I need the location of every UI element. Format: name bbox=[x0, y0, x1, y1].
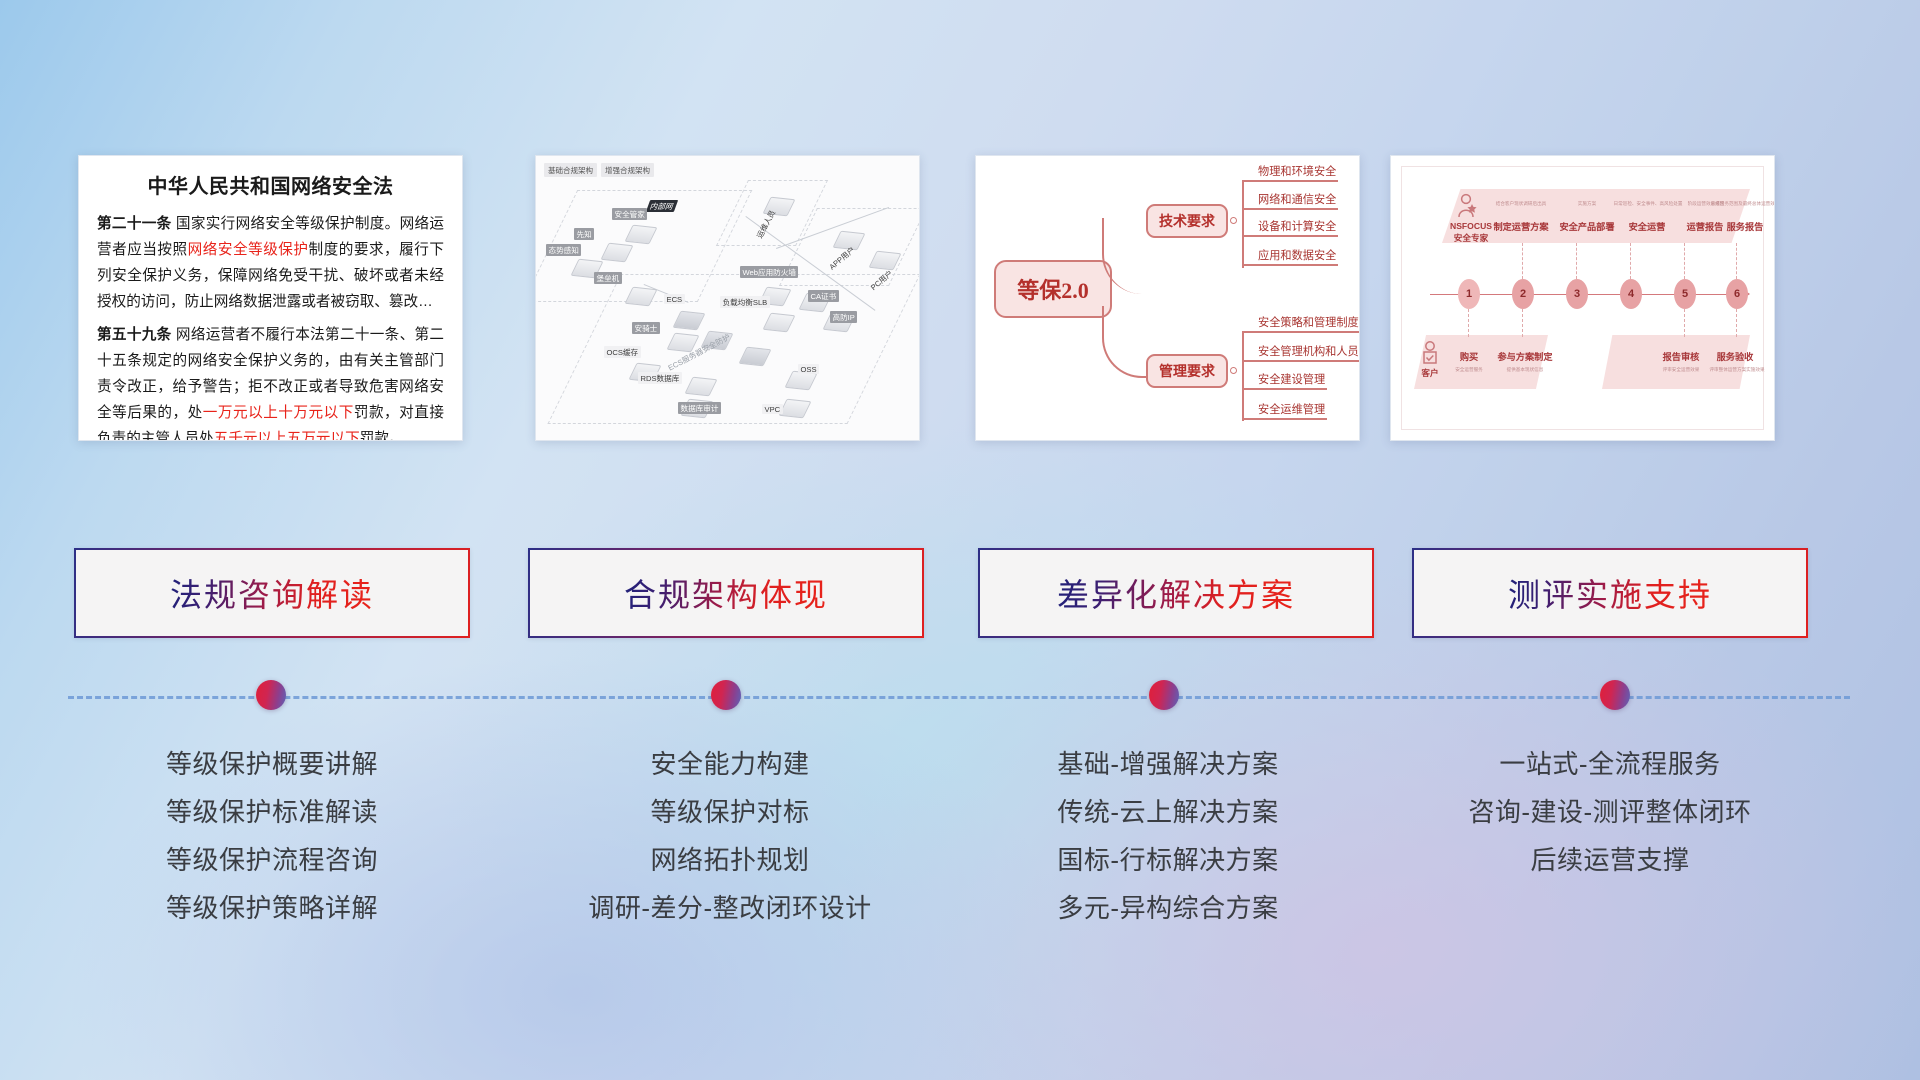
mindmap-tick-m4 bbox=[1242, 418, 1256, 420]
mindmap: 等保2.0 技术要求 管理要求 物理和环境安全 网络和通信安全 设备和计算安全 … bbox=[976, 156, 1359, 440]
arch-label-oss: OSS bbox=[798, 364, 819, 374]
heading-label-3: 差异化解决方案 bbox=[1057, 570, 1295, 616]
bottom-lists: 等级保护概要讲解 等级保护标准解读 等级保护流程咨询 等级保护策略详解 安全能力… bbox=[0, 740, 1920, 970]
flow-dash-b1 bbox=[1468, 309, 1469, 337]
service-flow-frame: NSFOCUS 安全专家 结合客户现状调研后出具 制定运营方案 实施方案 安全产… bbox=[1401, 166, 1764, 430]
list-item: 一站式-全流程服务 bbox=[1400, 740, 1820, 788]
law-article-59: 第五十九条 网络运营者不履行本法第二十一条、第二十五条规定的网络安全保护义务的，… bbox=[97, 323, 444, 441]
flow-bottom-title-1: 购买 bbox=[1446, 349, 1492, 363]
list-column-4: 一站式-全流程服务 咨询-建设-测评整体闭环 后续运营支撑 bbox=[1400, 740, 1820, 884]
arch-label-slb: 负载均衡SLB bbox=[720, 296, 770, 308]
article-59-text-c: 罚款。 bbox=[360, 431, 404, 441]
flow-bottom-sub-1: 安全运营服务 bbox=[1446, 367, 1492, 373]
flow-step-2[interactable]: 2 bbox=[1512, 279, 1534, 309]
arch-label-anti-ddos: 高防IP bbox=[830, 311, 857, 323]
mindmap-collapse-dot-tech[interactable] bbox=[1230, 217, 1237, 224]
card-mindmap-dengbao[interactable]: 等保2.0 技术要求 管理要求 物理和环境安全 网络和通信安全 设备和计算安全 … bbox=[975, 155, 1360, 441]
timeline-dot-3[interactable] bbox=[1149, 680, 1179, 710]
flow-step-4[interactable]: 4 bbox=[1620, 279, 1642, 309]
mindmap-spine-tech bbox=[1242, 180, 1244, 268]
flow-customer-label: 客户 bbox=[1414, 367, 1446, 379]
expert-person-icon bbox=[1456, 193, 1478, 219]
timeline bbox=[0, 692, 1920, 702]
heading-box-assessment-support[interactable]: 测评实施支持 bbox=[1412, 548, 1808, 638]
mindmap-leaf-mgmt-4: 安全运维管理 bbox=[1256, 401, 1327, 420]
flow-dash-b2 bbox=[1522, 309, 1523, 337]
article-21-label: 第二十一条 bbox=[97, 216, 172, 232]
flow-dash-6 bbox=[1736, 243, 1737, 279]
mindmap-branch-technical: 技术要求 bbox=[1146, 204, 1228, 238]
slide-canvas: 中华人民共和国网络安全法 第二十一条 国家实行网络安全等级保护制度。网络运营者应… bbox=[0, 0, 1920, 1080]
heading-label-4: 测评实施支持 bbox=[1508, 570, 1712, 616]
flow-bottom-sub-4: 评审整体运营方案实施效果 bbox=[1698, 367, 1775, 373]
mindmap-tick-t2 bbox=[1242, 208, 1256, 210]
article-59-label: 第五十九条 bbox=[97, 327, 172, 343]
list-item: 后续运营支撑 bbox=[1400, 836, 1820, 884]
arch-label-vpc: VPC bbox=[762, 404, 783, 414]
mindmap-leaf-tech-1: 物理和环境安全 bbox=[1256, 163, 1338, 182]
mindmap-root: 等保2.0 bbox=[994, 260, 1112, 318]
mindmap-tick-t3 bbox=[1242, 235, 1256, 237]
flow-bottom-sub-2: 提供基本现状信息 bbox=[1492, 367, 1558, 373]
flow-top-title-2: 安全产品部署 bbox=[1554, 219, 1620, 233]
article-21-highlight: 网络安全等级保护 bbox=[188, 242, 309, 258]
list-item: 等级保护策略详解 bbox=[62, 884, 482, 932]
heading-label-1: 法规咨询解读 bbox=[170, 570, 374, 616]
flow-step-1[interactable]: 1 bbox=[1458, 279, 1480, 309]
flow-dash-2 bbox=[1522, 243, 1523, 279]
architecture-diagram: 基础合规架构 增强合规架构 bbox=[536, 156, 919, 440]
list-item: 多元-异构综合方案 bbox=[958, 884, 1378, 932]
architecture-tabs: 基础合规架构 增强合规架构 bbox=[544, 163, 654, 177]
list-item: 国标-行标解决方案 bbox=[958, 836, 1378, 884]
heading-box-compliance-architecture[interactable]: 合规架构体现 bbox=[528, 548, 924, 638]
list-item: 等级保护对标 bbox=[520, 788, 940, 836]
heading-box-differentiated-solution[interactable]: 差异化解决方案 bbox=[978, 548, 1374, 638]
flow-top-title-3: 安全运营 bbox=[1614, 219, 1680, 233]
mindmap-leaf-tech-2: 网络和通信安全 bbox=[1256, 191, 1338, 210]
flow-bottom-title-4: 服务验收 bbox=[1704, 349, 1766, 363]
flow-dash-b4 bbox=[1736, 309, 1737, 337]
law-document: 中华人民共和国网络安全法 第二十一条 国家实行网络安全等级保护制度。网络运营者应… bbox=[79, 156, 462, 441]
mindmap-tick-m3 bbox=[1242, 388, 1256, 390]
flow-dash-5 bbox=[1684, 243, 1685, 279]
mindmap-leaf-tech-3: 设备和计算安全 bbox=[1256, 218, 1338, 237]
timeline-dot-4[interactable] bbox=[1600, 680, 1630, 710]
mindmap-leaf-tech-4: 应用和数据安全 bbox=[1256, 247, 1338, 266]
heading-box-regulation-consulting[interactable]: 法规咨询解读 bbox=[74, 548, 470, 638]
flow-bottom-title-2: 参与方案制定 bbox=[1492, 349, 1558, 363]
timeline-dashed-line bbox=[68, 696, 1850, 699]
top-image-cards: 中华人民共和国网络安全法 第二十一条 国家实行网络安全等级保护制度。网络运营者应… bbox=[0, 155, 1920, 445]
arch-label-anqishi: 安骑士 bbox=[632, 322, 660, 334]
arch-tab-basic[interactable]: 基础合规架构 bbox=[544, 163, 597, 177]
arch-label-ecs: ECS bbox=[664, 294, 685, 304]
law-article-21: 第二十一条 国家实行网络安全等级保护制度。网络运营者应当按照网络安全等级保护制度… bbox=[97, 212, 444, 316]
arch-label-situational: 态势感知 bbox=[546, 244, 581, 256]
arch-label-db-audit: 数据库审计 bbox=[678, 402, 721, 414]
flow-top-title-5: 服务报告 bbox=[1714, 219, 1775, 233]
list-item: 等级保护流程咨询 bbox=[62, 836, 482, 884]
arch-label-xianzhi: 先知 bbox=[574, 228, 594, 240]
mindmap-tick-m2 bbox=[1242, 360, 1256, 362]
mindmap-spine-mgmt bbox=[1242, 331, 1244, 421]
arch-label-bastion: 堡垒机 bbox=[594, 272, 622, 284]
timeline-dot-2[interactable] bbox=[711, 680, 741, 710]
mindmap-leaf-mgmt-2: 安全管理机构和人员 bbox=[1256, 343, 1360, 362]
mindmap-leaf-mgmt-3: 安全建设管理 bbox=[1256, 371, 1327, 390]
flow-bottom-title-3: 报告审核 bbox=[1650, 349, 1712, 363]
mindmap-collapse-dot-mgmt[interactable] bbox=[1230, 367, 1237, 374]
list-item: 网络拓扑规划 bbox=[520, 836, 940, 884]
arch-label-security-butler: 安全管家 bbox=[612, 208, 647, 220]
flow-top-sub-1: 结合客户现状调研后出具 bbox=[1484, 201, 1558, 207]
flow-brand-sub: 安全专家 bbox=[1442, 232, 1500, 244]
card-cloud-architecture[interactable]: 基础合规架构 增强合规架构 bbox=[535, 155, 920, 441]
arch-label-intranet: 内部网 bbox=[646, 200, 678, 212]
mindmap-leaf-mgmt-1: 安全策略和管理制度 bbox=[1256, 314, 1360, 333]
list-item: 等级保护概要讲解 bbox=[62, 740, 482, 788]
card-cybersecurity-law[interactable]: 中华人民共和国网络安全法 第二十一条 国家实行网络安全等级保护制度。网络运营者应… bbox=[78, 155, 463, 441]
mindmap-tick-t1 bbox=[1242, 180, 1256, 182]
mindmap-branch-management: 管理要求 bbox=[1146, 354, 1228, 388]
flow-step-6[interactable]: 6 bbox=[1726, 279, 1748, 309]
list-item: 基础-增强解决方案 bbox=[958, 740, 1378, 788]
law-title: 中华人民共和国网络安全法 bbox=[97, 170, 444, 199]
flow-step-3[interactable]: 3 bbox=[1566, 279, 1588, 309]
flow-dash-b3 bbox=[1684, 309, 1685, 337]
list-column-3: 基础-增强解决方案 传统-云上解决方案 国标-行标解决方案 多元-异构综合方案 bbox=[958, 740, 1378, 932]
flow-dash-4 bbox=[1630, 243, 1631, 279]
mindmap-tick-m1 bbox=[1242, 331, 1256, 333]
list-item: 安全能力构建 bbox=[520, 740, 940, 788]
arch-label-rds: RDS数据库 bbox=[638, 372, 682, 384]
heading-label-2: 合规架构体现 bbox=[624, 570, 828, 616]
arch-tab-enhanced[interactable]: 增强合规架构 bbox=[601, 163, 654, 177]
list-item: 传统-云上解决方案 bbox=[958, 788, 1378, 836]
flow-top-sub-5: 总结服务范围及最终总体运营效果 bbox=[1702, 201, 1775, 207]
article-59-highlight-b: 五千元以上五万元以下 bbox=[214, 431, 360, 441]
section-headings: 法规咨询解读 合规架构体现 差异化解决方案 测评实施支持 bbox=[0, 548, 1920, 640]
arch-label-waf: Web应用防火墙 bbox=[740, 266, 798, 278]
list-item: 咨询-建设-测评整体闭环 bbox=[1400, 788, 1820, 836]
flow-dash-3 bbox=[1576, 243, 1577, 279]
list-column-1: 等级保护概要讲解 等级保护标准解读 等级保护流程咨询 等级保护策略详解 bbox=[62, 740, 482, 932]
article-59-highlight-a: 一万元以上十万元以下 bbox=[203, 405, 354, 421]
flow-top-title-1: 制定运营方案 bbox=[1484, 219, 1558, 233]
timeline-dot-1[interactable] bbox=[256, 680, 286, 710]
list-column-2: 安全能力构建 等级保护对标 网络拓扑规划 调研-差分-整改闭环设计 bbox=[520, 740, 940, 932]
card-service-flow[interactable]: NSFOCUS 安全专家 结合客户现状调研后出具 制定运营方案 实施方案 安全产… bbox=[1390, 155, 1775, 441]
mindmap-tick-t4 bbox=[1242, 264, 1256, 266]
customer-person-icon bbox=[1420, 341, 1440, 367]
flow-step-5[interactable]: 5 bbox=[1674, 279, 1696, 309]
service-flow-diagram: NSFOCUS 安全专家 结合客户现状调研后出具 制定运营方案 实施方案 安全产… bbox=[1391, 156, 1774, 440]
list-item: 调研-差分-整改闭环设计 bbox=[520, 884, 940, 932]
list-item: 等级保护标准解读 bbox=[62, 788, 482, 836]
arch-label-ocs: OCS缓存 bbox=[604, 346, 641, 358]
arch-label-ca: CA证书 bbox=[808, 290, 839, 302]
